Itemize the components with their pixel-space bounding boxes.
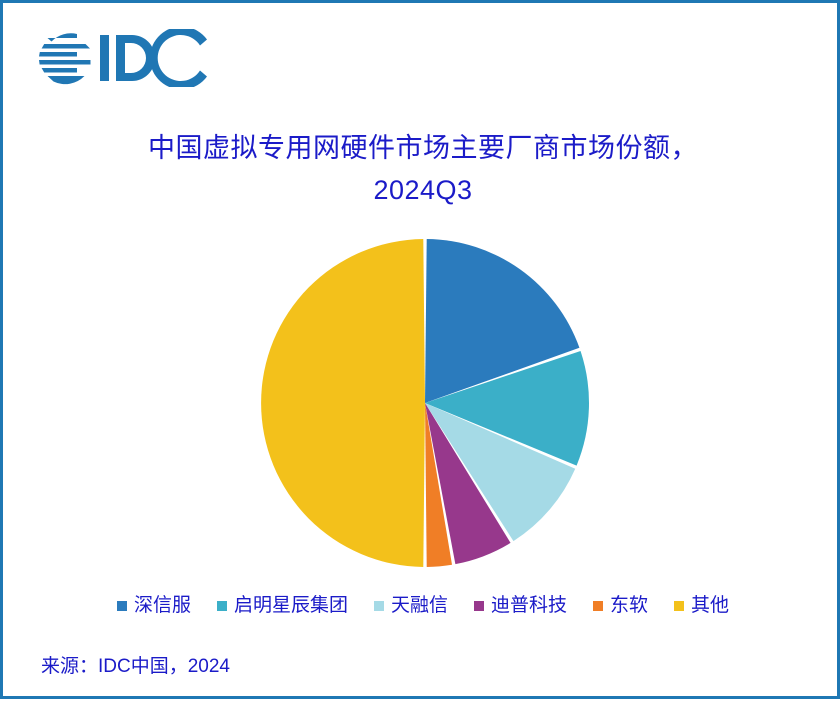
legend-item-label: 深信服 (134, 595, 191, 617)
legend-item[interactable]: 深信服 (117, 595, 191, 617)
legend-item[interactable]: 天融信 (374, 595, 448, 617)
legend-swatch-icon (117, 601, 127, 611)
legend-swatch-icon (674, 601, 684, 611)
idc-wordmark (100, 29, 207, 87)
source-note: 来源：IDC中国，2024 (41, 651, 230, 678)
pie-slice-group (261, 239, 589, 567)
legend-item[interactable]: 启明星辰集团 (217, 595, 348, 617)
legend-item-label: 迪普科技 (491, 595, 567, 617)
legend-swatch-icon (474, 601, 484, 611)
pie-slice[interactable] (425, 351, 589, 466)
legend-item-label: 东软 (610, 595, 648, 617)
idc-logo (37, 29, 217, 87)
globe-icon (39, 33, 91, 84)
legend-swatch-icon (374, 601, 384, 611)
pie-slice[interactable] (425, 403, 575, 541)
page-title-line-2: 2024Q3 (73, 169, 773, 211)
legend-item[interactable]: 其他 (674, 595, 729, 617)
page-title-line-1: 中国虚拟专用网硬件市场主要厂商市场份额， (73, 127, 773, 169)
chart-legend: 深信服启明星辰集团天融信迪普科技东软其他 (3, 595, 840, 617)
legend-swatch-icon (593, 601, 603, 611)
page-title: 中国虚拟专用网硬件市场主要厂商市场份额， 2024Q3 (73, 127, 773, 211)
chart-frame: 中国虚拟专用网硬件市场主要厂商市场份额， 2024Q3 深信服启明星辰集团天融信… (0, 0, 840, 699)
legend-item[interactable]: 迪普科技 (474, 595, 567, 617)
legend-item[interactable]: 东软 (593, 595, 648, 617)
pie-slice[interactable] (425, 239, 579, 403)
legend-item-label: 其他 (691, 595, 729, 617)
legend-item-label: 启明星辰集团 (234, 595, 348, 617)
legend-swatch-icon (217, 601, 227, 611)
legend-item-label: 天融信 (391, 595, 448, 617)
pie-slice[interactable] (425, 403, 452, 567)
pie-slice[interactable] (425, 403, 511, 564)
pie-slice[interactable] (261, 239, 425, 567)
